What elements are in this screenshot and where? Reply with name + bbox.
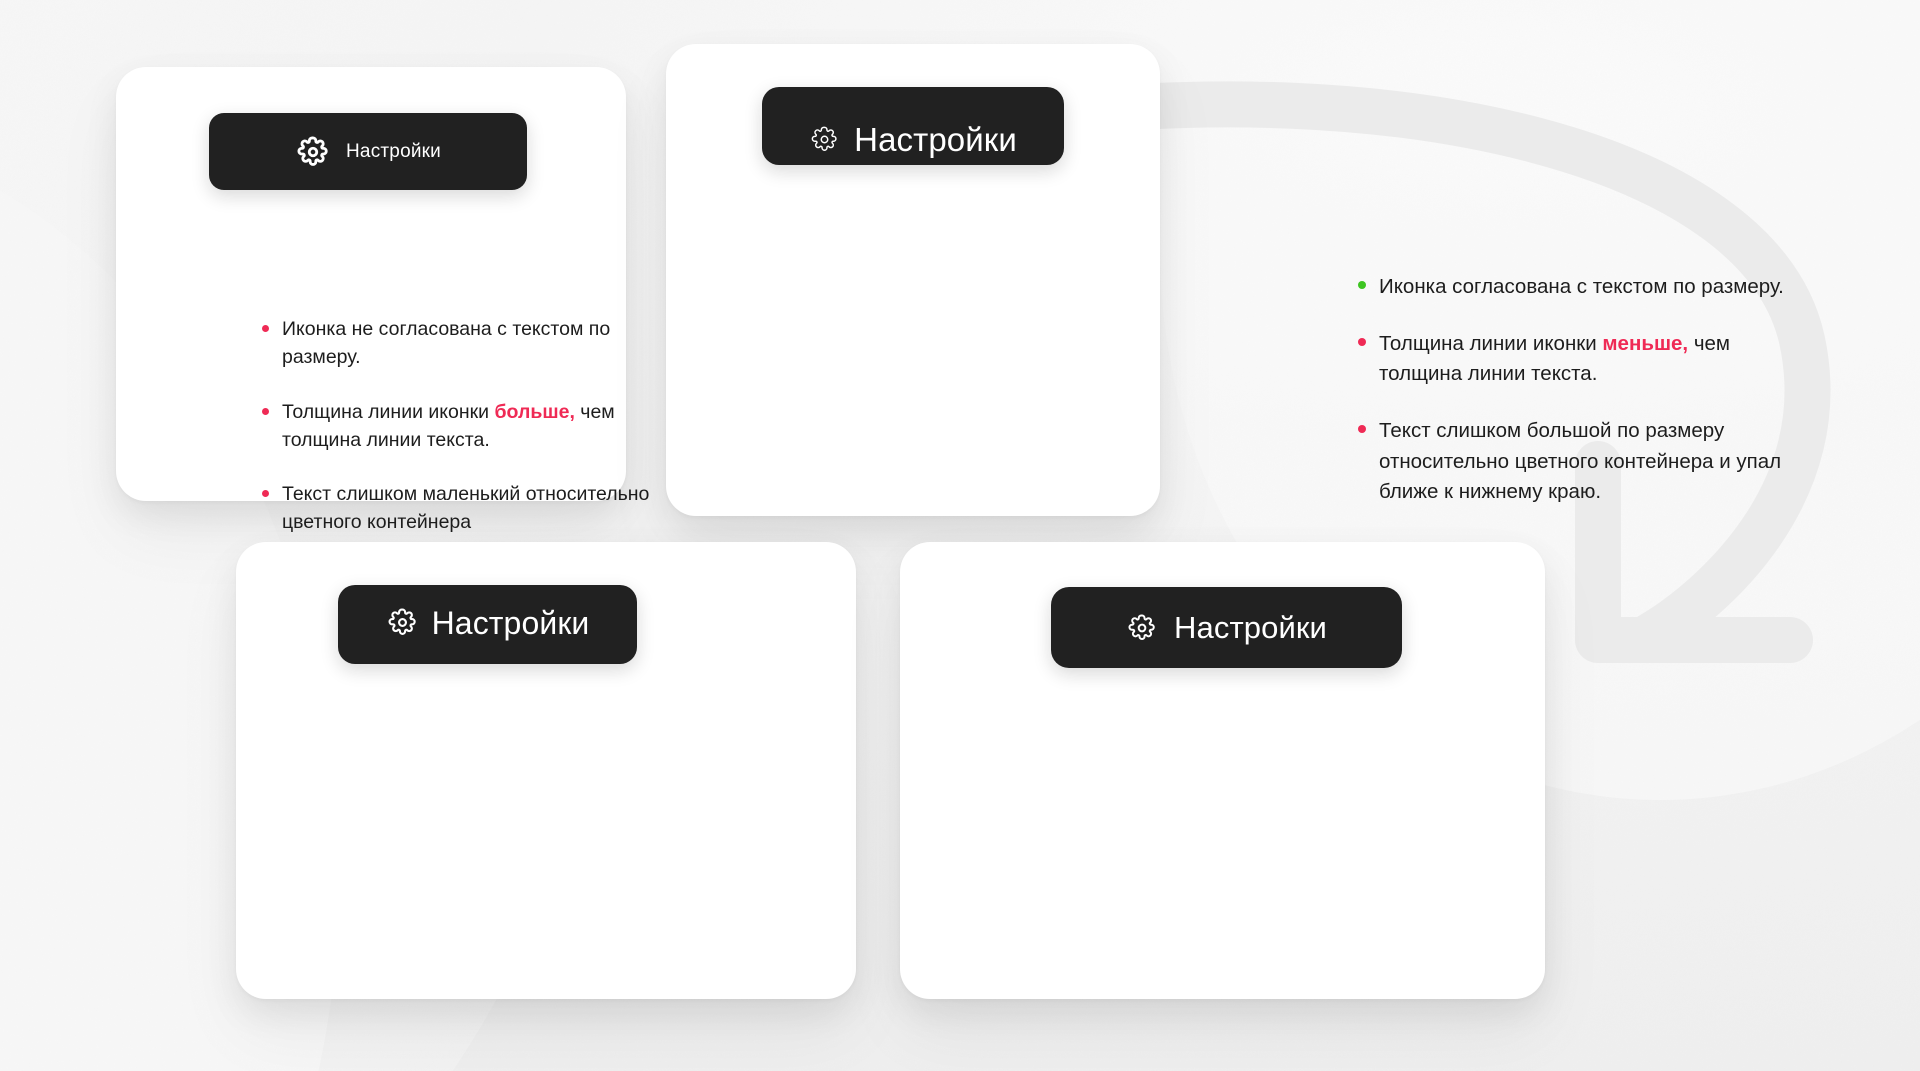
bullet-text: Иконка согласована с текстом по размеру.: [1379, 272, 1788, 302]
gear-icon: [386, 606, 419, 639]
gear-icon: [295, 134, 331, 170]
list-item: Толщина линии иконки больше, чем толщина…: [262, 398, 682, 455]
bullet-dot: [1358, 338, 1366, 346]
settings-button[interactable]: Настройки: [762, 87, 1064, 165]
bullet-highlight: больше,: [495, 401, 575, 423]
list-item: Толщина линии иконки меньше, чем толщина…: [1358, 329, 1788, 389]
list-item: Текст слишком маленький относительно цве…: [262, 480, 682, 537]
list-item: Иконка не согласована с текстом по разме…: [262, 315, 682, 372]
bullet-text: Толщина линии иконки меньше, чем толщина…: [1379, 329, 1788, 389]
settings-button-label: Настройки: [1174, 612, 1327, 643]
bullet-text: Текст слишком большой по размеру относит…: [1379, 416, 1788, 506]
settings-button-label: Настройки: [432, 607, 590, 639]
example-card-2: Настройки Иконка согласована с текстом п…: [666, 44, 1160, 516]
gear-icon: [1126, 612, 1158, 644]
notes-list-2: Иконка согласована с текстом по размеру.…: [1358, 272, 1788, 507]
example-card-3: Настройки Иконка согласована с текстом п…: [236, 542, 856, 999]
gear-icon: [809, 124, 840, 155]
settings-button[interactable]: Настройки: [1051, 587, 1402, 668]
example-card-1: Настройки Иконка не согласована с тексто…: [116, 67, 626, 501]
bullet-dot: [1358, 425, 1366, 433]
notes-list-1: Иконка не согласована с текстом по разме…: [262, 315, 682, 537]
bullet-text: Иконка не согласована с текстом по разме…: [282, 315, 682, 372]
settings-button-label: Настройки: [346, 141, 441, 163]
settings-button[interactable]: Настройки: [338, 585, 637, 664]
bullet-dot: [262, 490, 269, 497]
list-item: Текст слишком большой по размеру относит…: [1358, 416, 1788, 506]
settings-button-label: Настройки: [854, 123, 1017, 156]
bullet-highlight: меньше,: [1602, 332, 1688, 355]
example-card-4: Настройки Иконка согласована с текстом п…: [900, 542, 1545, 999]
bullet-dot: [262, 325, 269, 332]
list-item: Иконка согласована с текстом по размеру.: [1358, 272, 1788, 302]
bullet-text: Толщина линии иконки больше, чем толщина…: [282, 398, 682, 455]
settings-button[interactable]: Настройки: [209, 113, 527, 190]
bullet-text: Текст слишком маленький относительно цве…: [282, 480, 682, 537]
bullet-dot: [1358, 281, 1366, 289]
bullet-dot: [262, 408, 269, 415]
